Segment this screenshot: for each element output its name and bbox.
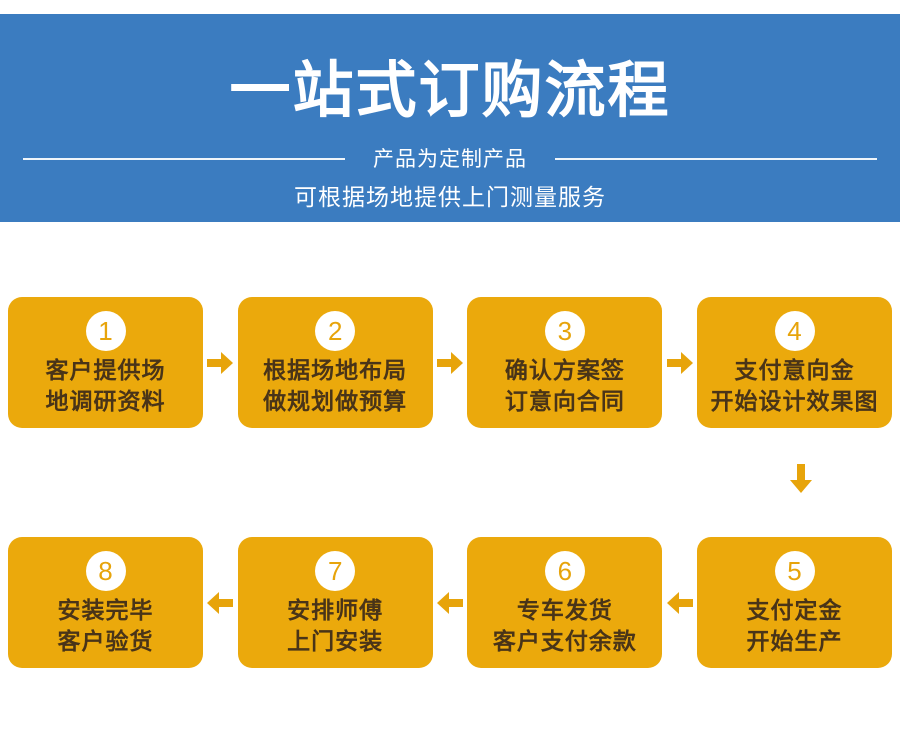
arrow-right-icon — [667, 352, 693, 374]
step-label-5-line-1: 支付定金 — [747, 597, 843, 623]
connector-2-to-3 — [433, 297, 468, 428]
step-label-1-line-2: 地调研资料 — [8, 386, 203, 417]
step-label-7-line-2: 上门安装 — [238, 626, 433, 657]
step-label-3-line-2: 订意向合同 — [467, 386, 662, 417]
step-box-6[interactable]: 6 专车发货 客户支付余款 — [467, 537, 662, 668]
step-label-1: 客户提供场 地调研资料 — [8, 355, 203, 417]
step-label-8-line-2: 客户验货 — [8, 626, 203, 657]
subtitle-rule-row: 产品为定制产品 — [0, 142, 900, 176]
connector-3-to-4 — [662, 297, 697, 428]
step-number-badge-4: 4 — [775, 311, 815, 351]
subtitle-line-2: 可根据场地提供上门测量服务 — [0, 186, 900, 209]
step-label-6-line-1: 专车发货 — [517, 597, 613, 623]
page-title: 一站式订购流程 — [0, 60, 900, 121]
connector-5-to-6 — [662, 537, 697, 668]
step-label-4-line-2: 开始设计效果图 — [697, 386, 892, 417]
step-number-badge-2: 2 — [315, 311, 355, 351]
step-box-2[interactable]: 2 根据场地布局 做规划做预算 — [238, 297, 433, 428]
step-box-3[interactable]: 3 确认方案签 订意向合同 — [467, 297, 662, 428]
arrow-left-icon — [437, 592, 463, 614]
step-label-3: 确认方案签 订意向合同 — [467, 355, 662, 417]
flow-row-top: 1 客户提供场 地调研资料 2 根据场地布局 做规划做预算 3 — [8, 297, 892, 428]
step-label-6-line-2: 客户支付余款 — [467, 626, 662, 657]
flow-row-bottom: 8 安装完毕 客户验货 7 安排师傅 上门安装 6 — [8, 537, 892, 668]
divider-left — [23, 158, 345, 160]
step-label-3-line-1: 确认方案签 — [505, 357, 625, 383]
arrow-down-icon — [790, 464, 812, 494]
arrow-left-icon — [667, 592, 693, 614]
step-label-2: 根据场地布局 做规划做预算 — [238, 355, 433, 417]
step-label-6: 专车发货 客户支付余款 — [467, 595, 662, 657]
divider-right — [555, 158, 877, 160]
arrow-right-icon — [207, 352, 233, 374]
step-label-4-line-1: 支付意向金 — [735, 357, 855, 383]
step-number-badge-8: 8 — [86, 551, 126, 591]
step-box-8[interactable]: 8 安装完毕 客户验货 — [8, 537, 203, 668]
step-number-badge-1: 1 — [86, 311, 126, 351]
step-label-5: 支付定金 开始生产 — [697, 595, 892, 657]
step-label-8: 安装完毕 客户验货 — [8, 595, 203, 657]
step-label-4: 支付意向金 开始设计效果图 — [697, 355, 892, 417]
step-label-2-line-2: 做规划做预算 — [238, 386, 433, 417]
step-number-badge-6: 6 — [545, 551, 585, 591]
step-label-5-line-2: 开始生产 — [697, 626, 892, 657]
step-number-badge-3: 3 — [545, 311, 585, 351]
step-box-7[interactable]: 7 安排师傅 上门安装 — [238, 537, 433, 668]
subtitle-line-1: 产品为定制产品 — [373, 149, 527, 170]
step-label-1-line-1: 客户提供场 — [46, 357, 166, 383]
step-label-7: 安排师傅 上门安装 — [238, 595, 433, 657]
step-box-4[interactable]: 4 支付意向金 开始设计效果图 — [697, 297, 892, 428]
arrow-left-icon — [207, 592, 233, 614]
header-banner: 一站式订购流程 产品为定制产品 可根据场地提供上门测量服务 — [0, 14, 900, 222]
step-label-8-line-1: 安装完毕 — [58, 597, 154, 623]
step-box-5[interactable]: 5 支付定金 开始生产 — [697, 537, 892, 668]
connector-1-to-2 — [203, 297, 238, 428]
step-label-2-line-1: 根据场地布局 — [263, 357, 407, 383]
step-number-badge-5: 5 — [775, 551, 815, 591]
step-box-1[interactable]: 1 客户提供场 地调研资料 — [8, 297, 203, 428]
connector-7-to-8 — [203, 537, 238, 668]
step-label-7-line-1: 安排师傅 — [287, 597, 383, 623]
step-number-badge-7: 7 — [315, 551, 355, 591]
connector-6-to-7 — [433, 537, 468, 668]
arrow-right-icon — [437, 352, 463, 374]
order-process-flow: 1 客户提供场 地调研资料 2 根据场地布局 做规划做预算 3 — [0, 222, 900, 737]
